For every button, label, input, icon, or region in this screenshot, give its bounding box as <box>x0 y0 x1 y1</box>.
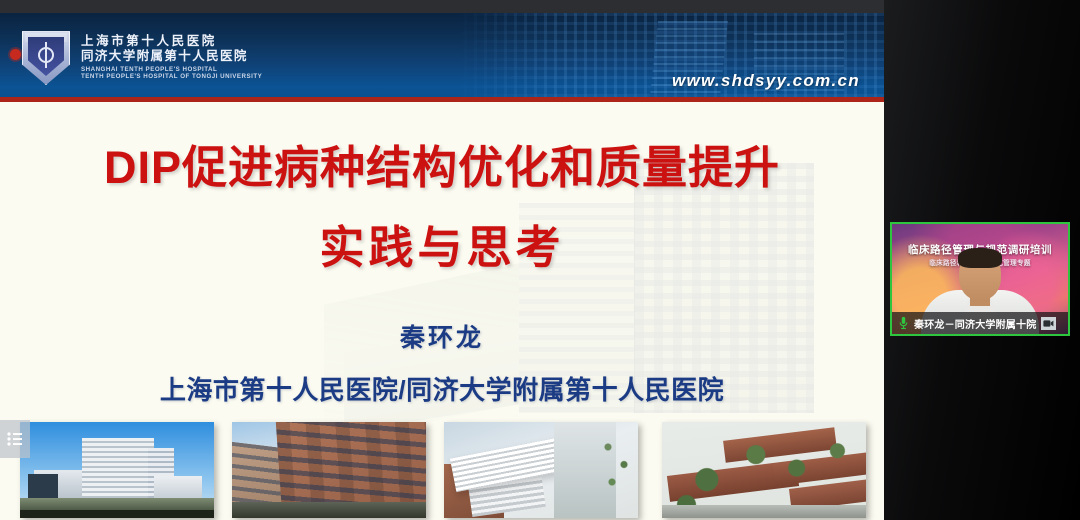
camera-icon[interactable] <box>1041 317 1056 330</box>
participant-name-label: 秦环龙－同济大学附属十院 <box>914 316 1036 331</box>
photo-hospital-tower <box>20 422 214 518</box>
photo-strip <box>0 410 884 520</box>
hospital-name-cn-1: 上海市第十人民医院 <box>81 35 262 48</box>
presenter-name: 秦环龙 <box>0 318 884 354</box>
slide-title-line-1: DIP促进病种结构优化和质量提升 <box>0 131 884 196</box>
red-dot-icon <box>10 49 21 60</box>
photo-brick-block <box>232 422 426 518</box>
hospital-website-url: www.shdsyy.com.cn <box>672 71 860 91</box>
slide-title-line-2: 实践与思考 <box>0 211 884 276</box>
hospital-crest-icon <box>22 31 70 85</box>
microphone-icon[interactable] <box>898 316 909 330</box>
header-red-rule <box>0 97 884 102</box>
hospital-name-text: 上海市第十人民医院 同济大学附属第十人民医院 SHANGHAI TENTH PE… <box>81 35 262 81</box>
slide-list-button[interactable] <box>0 420 30 458</box>
hospital-name-cn-2: 同济大学附属第十人民医院 <box>81 50 262 63</box>
screen-share-top-bar <box>0 0 884 13</box>
photo-aerial-campus <box>662 422 866 518</box>
participant-name-bar: 秦环龙－同济大学附属十院 <box>892 312 1068 334</box>
hospital-name-en-2: TENTH PEOPLE'S HOSPITAL OF TONGJI UNIVER… <box>81 74 262 81</box>
hospital-logo-block: 上海市第十人民医院 同济大学附属第十人民医院 SHANGHAI TENTH PE… <box>22 31 262 85</box>
participant-video-tile[interactable]: 临床路径管理与规范调研培训 临床路径和DIP下精细化管理专题 秦环龙－同济大学附… <box>890 222 1070 336</box>
presenter-affiliation: 上海市第十人民医院/同济大学附属第十人民医院 <box>0 370 884 407</box>
photo-canopy-atrium <box>444 422 638 518</box>
meeting-screen: 上海市第十人民医院 同济大学附属第十人民医院 SHANGHAI TENTH PE… <box>0 0 1080 520</box>
shared-slide[interactable]: 上海市第十人民医院 同济大学附属第十人民医院 SHANGHAI TENTH PE… <box>0 13 884 520</box>
